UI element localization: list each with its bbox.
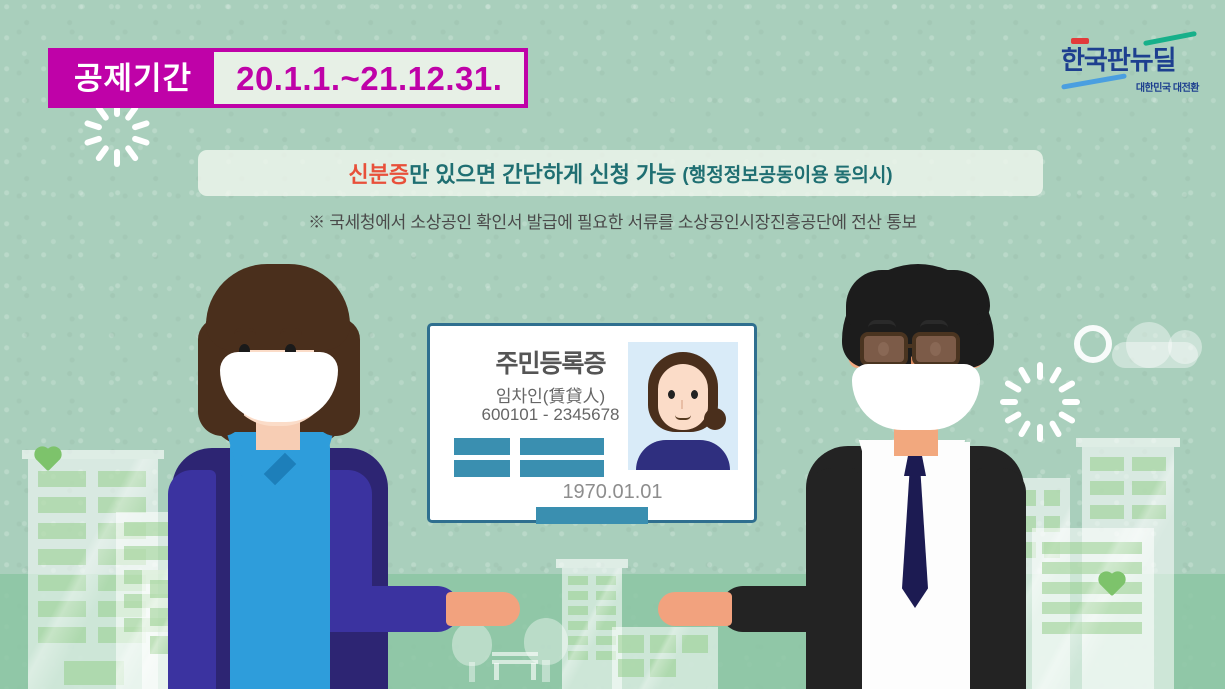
id-card-date: 1970.01.01 — [530, 481, 695, 504]
hair-top — [206, 264, 350, 350]
face-mask — [852, 364, 980, 430]
logo-sub-text: 대한민국 대전환 — [1136, 79, 1199, 94]
id-card-name: 임차인(賃貸人) — [468, 382, 633, 407]
id-card-title: 주민등록증 — [468, 344, 633, 380]
period-value: 20.1.1.~21.12.31. — [214, 52, 524, 104]
redaction-bar-1 — [454, 438, 510, 455]
eyebrow-left — [868, 320, 896, 328]
footnote-text: ※ 국세청에서 소상공인 확인서 발급에 필요한 서류를 소상공인시장진흥공단에… — [0, 208, 1225, 233]
id-card: 주민등록증 임차인(賃貸人) 600101 - 2345678 1970.01.… — [427, 323, 757, 523]
logo-main-text: 한국판뉴딜 — [1061, 40, 1176, 77]
forearm-left — [720, 586, 860, 632]
arm-right — [976, 468, 1026, 689]
eyebrow-left — [234, 328, 256, 335]
eyebrow-right — [280, 328, 302, 335]
period-label: 공제기간 — [52, 52, 214, 104]
building-center-wide — [612, 627, 718, 689]
redaction-bar-4 — [520, 460, 604, 477]
person-right-officer — [800, 256, 1100, 689]
hand-left — [658, 592, 732, 626]
eyeglasses-lens-left — [860, 332, 908, 366]
id-card-photo — [628, 342, 738, 470]
redaction-bar-3 — [454, 460, 510, 477]
redaction-bar-2 — [520, 438, 604, 455]
cloud-icon — [1112, 342, 1198, 368]
hand-right — [446, 592, 520, 626]
building-cap — [556, 559, 628, 568]
korean-new-deal-logo: 한국판뉴딜 대한민국 대전환 — [1053, 30, 1203, 92]
period-banner: 공제기간 20.1.1.~21.12.31. — [48, 48, 528, 108]
id-card-number: 600101 - 2345678 — [468, 405, 633, 425]
headline-paren: (행정정보공동이용 동의시) — [682, 160, 892, 187]
eyeglasses-lens-right — [912, 332, 960, 366]
headline-main: 만 있으면 간단하게 신청 가능 — [409, 157, 676, 189]
redaction-bar-5 — [536, 507, 648, 524]
headline-accent: 신분증 — [348, 157, 409, 189]
infographic-canvas: 주민등록증 임차인(賃貸人) 600101 - 2345678 1970.01.… — [0, 0, 1225, 689]
eyeglasses-bridge — [906, 344, 916, 348]
headline-box: 신분증만 있으면 간단하게 신청 가능(행정정보공동이용 동의시) — [198, 150, 1043, 196]
forearm-right — [320, 586, 460, 632]
hair-fringe — [846, 270, 990, 326]
arm-left — [168, 470, 216, 689]
eyebrow-right — [920, 320, 948, 328]
